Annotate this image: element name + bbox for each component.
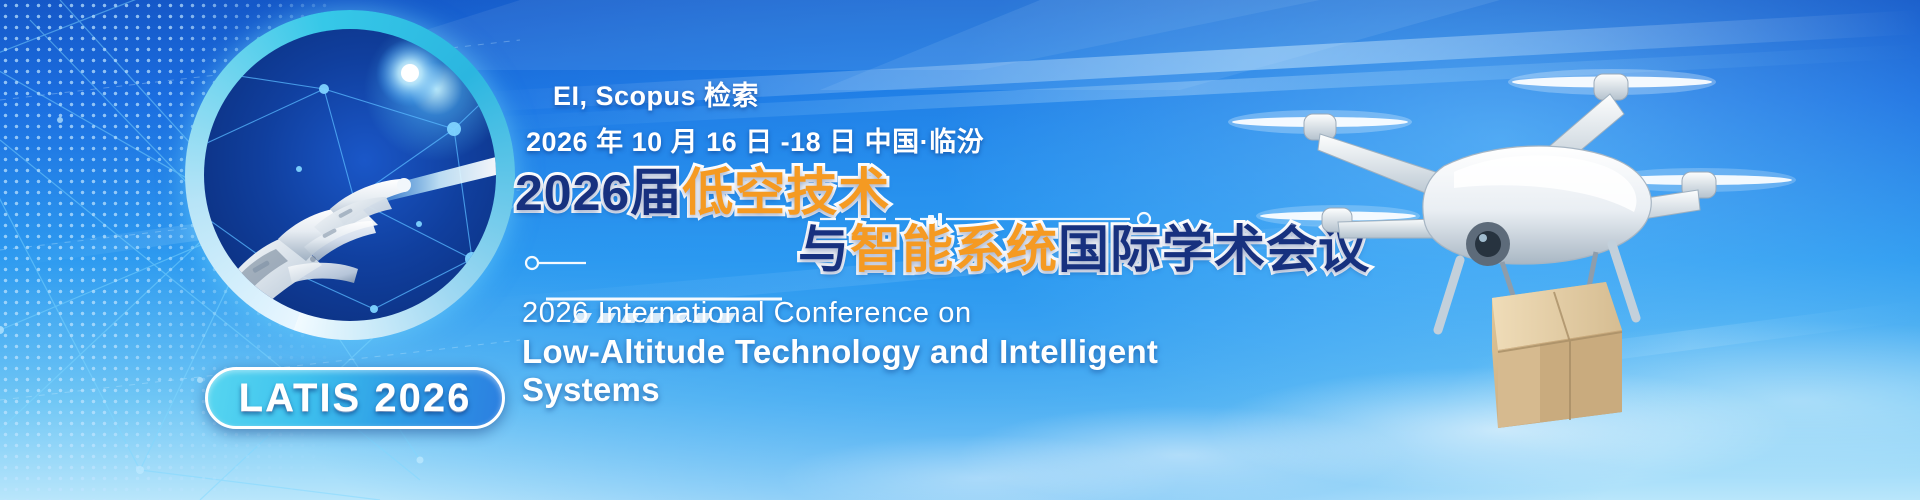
english-title-line-1: 2026 International Conference on (522, 297, 1300, 330)
cn-title-1-navy: 2026 (515, 168, 630, 218)
emblem-inner-scene (204, 29, 496, 321)
chinese-title: 2026 届 低空技术 与 智能系统 国际学术会议 (520, 167, 1300, 275)
date-location-line: 2026 年 10 月 16 日 -18 日 中国·临汾 (526, 120, 1300, 159)
indexing-line: EI, Scopus 检索 (553, 74, 1300, 113)
circular-emblem (185, 10, 515, 340)
conference-banner: LATIS 2026 EI, Scopus 检索 2026 年 10 月 16 … (0, 0, 1920, 500)
latis-logo-badge: LATIS 2026 (205, 367, 505, 429)
delivery-drone-graphic (1192, 30, 1892, 430)
cn-title-1-orange: 低空技术 (682, 167, 890, 218)
cn-title-2-navy: 与 (798, 224, 850, 275)
cn-title-1-navy-2: 届 (630, 167, 682, 218)
latis-logo-text: LATIS 2026 (239, 376, 472, 421)
banner-text-block: EI, Scopus 检索 2026 年 10 月 16 日 -18 日 中国·… (520, 74, 1300, 409)
chinese-title-line-1: 2026 届 低空技术 (515, 167, 1300, 218)
english-title-line-2: Low-Altitude Technology and Intelligent … (522, 333, 1300, 409)
cn-title-2-orange: 智能系统 (850, 224, 1058, 275)
robotic-hand-icon (218, 143, 438, 313)
